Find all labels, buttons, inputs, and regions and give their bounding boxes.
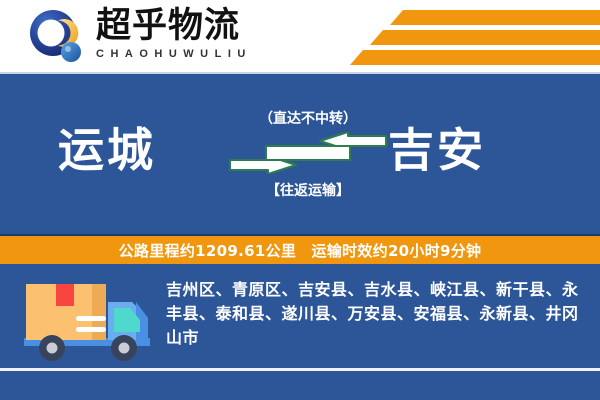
origin-city: 运城 (58, 114, 156, 180)
distance-duration-text: 公路里程约1209.61公里 运输时效约20小时9分钟 (119, 240, 482, 261)
circle-crescent-logo-icon (28, 9, 84, 65)
destination-city: 吉安 (388, 114, 486, 180)
stripe-1 (390, 10, 600, 25)
delivery-truck-icon (20, 276, 156, 366)
banner-header: 超乎物流 CHAOHUWULIU (0, 0, 600, 72)
stripe-2 (370, 30, 600, 45)
brand-name-en: CHAOHUWULIU (96, 48, 346, 60)
roundtrip-note: 【往返运输】 (228, 180, 388, 200)
distance-duration-bar: 公路里程约1209.61公里 运输时效约20小时9分钟 (0, 234, 600, 266)
double-headed-arrow-icon (228, 132, 388, 174)
coverage-area-list: 吉州区、青原区、吉安县、吉水县、峡江县、新干县、永丰县、泰和县、遂川县、万安县、… (166, 278, 586, 350)
stripe-3 (350, 50, 600, 65)
brand-lockup: 超乎物流 CHAOHUWULIU (96, 6, 346, 60)
bottom-divider (0, 368, 600, 371)
brand-name-cn: 超乎物流 (96, 6, 346, 46)
coverage-section: 吉州区、青原区、吉安县、吉水县、峡江县、新干县、永丰县、泰和县、遂川县、万安县、… (0, 264, 600, 400)
direct-route-note: （直达不中转） (228, 108, 388, 128)
logistics-route-banner: 超乎物流 CHAOHUWULIU 运城 （直达不中转） 【往返运输】 吉安 公路… (0, 0, 600, 400)
route-panel: 运城 （直达不中转） 【往返运输】 吉安 (0, 72, 600, 234)
route-middle: （直达不中转） 【往返运输】 (228, 108, 388, 200)
orange-speed-stripes-icon (350, 8, 600, 64)
